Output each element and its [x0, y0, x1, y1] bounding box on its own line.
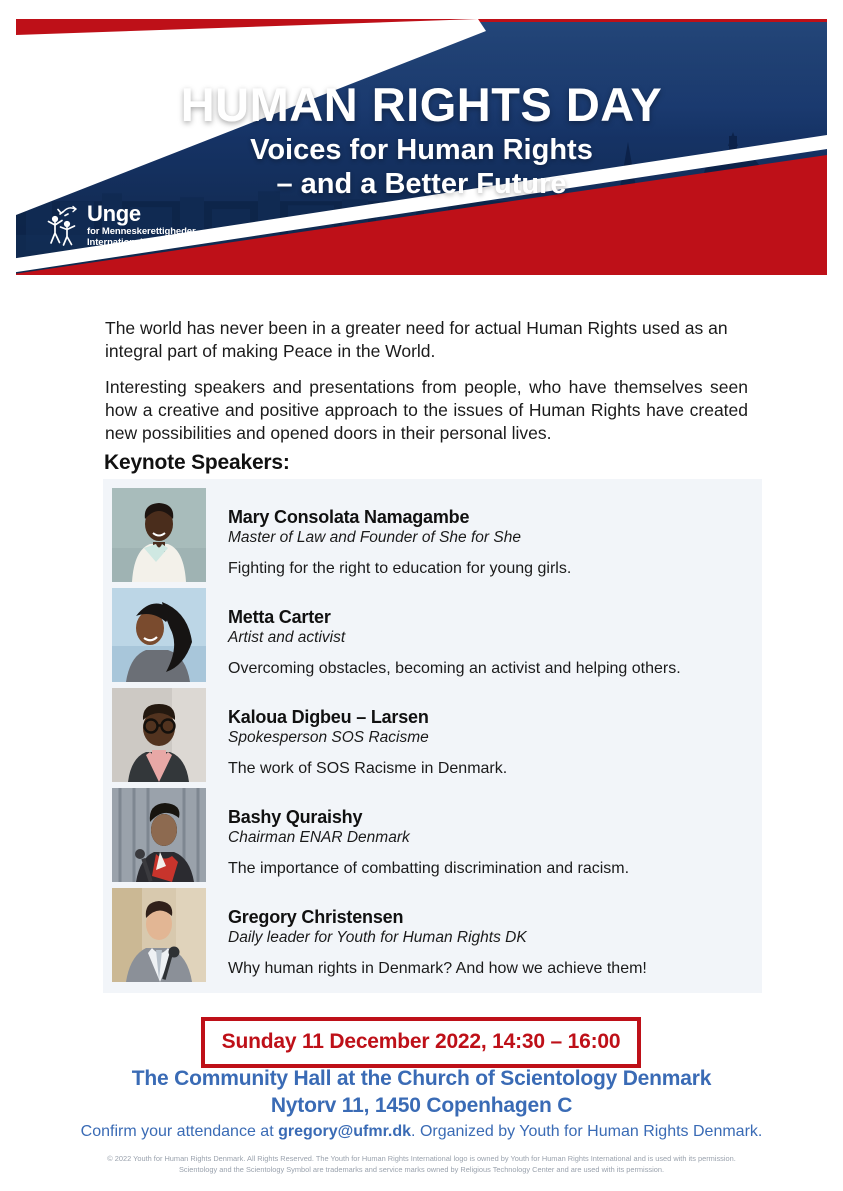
speaker-info: Mary Consolata Namagambe Master of Law a… [228, 488, 762, 578]
speaker-name: Gregory Christensen [228, 907, 762, 928]
banner-headline-group: HUMAN RIGHTS DAY Voices for Human Rights… [16, 81, 827, 201]
confirm-prefix: Confirm your attendance at [81, 1123, 278, 1140]
speaker-row: Kaloua Digbeu – Larsen Spokesperson SOS … [103, 685, 762, 785]
speaker-description: Overcoming obstacles, becoming an activi… [228, 659, 762, 678]
unge-logo-line2: for Menneskerettigheder [87, 227, 196, 237]
speaker-photo [112, 588, 206, 682]
keynote-speakers-panel: Mary Consolata Namagambe Master of Law a… [103, 479, 762, 993]
speaker-row: Gregory Christensen Daily leader for You… [103, 885, 762, 985]
speaker-info: Gregory Christensen Daily leader for You… [228, 888, 762, 978]
page-title: HUMAN RIGHTS DAY [16, 81, 827, 129]
banner-subtitle-line1: Voices for Human Rights [16, 133, 827, 167]
speaker-role: Spokesperson SOS Racisme [228, 729, 762, 748]
speaker-description: The importance of combatting discriminat… [228, 859, 762, 878]
speaker-name: Kaloua Digbeu – Larsen [228, 707, 762, 728]
speaker-role: Artist and activist [228, 629, 762, 648]
confirm-suffix: . Organized by Youth for Human Rights De… [411, 1123, 762, 1140]
speaker-role: Master of Law and Founder of She for She [228, 529, 762, 548]
speaker-info: Metta Carter Artist and activist Overcom… [228, 588, 762, 678]
speaker-role: Daily leader for Youth for Human Rights … [228, 929, 762, 948]
venue-line-2: Nytorv 11, 1450 Copenhagen C [0, 1093, 843, 1120]
unge-logo-wordmark: Unge for Menneskerettigheder Internation… [87, 203, 196, 247]
speaker-role: Chairman ENAR Denmark [228, 829, 762, 848]
speaker-info: Kaloua Digbeu – Larsen Spokesperson SOS … [228, 688, 762, 778]
speaker-description: Why human rights in Denmark? And how we … [228, 959, 762, 978]
youth-for-human-rights-figures-icon [44, 203, 80, 247]
speaker-row: Mary Consolata Namagambe Master of Law a… [103, 485, 762, 585]
speaker-photo [112, 488, 206, 582]
event-venue: The Community Hall at the Church of Scie… [0, 1066, 843, 1120]
banner-subtitle-line2: – and a Better Future [16, 167, 827, 201]
unge-logo: Unge for Menneskerettigheder Internation… [44, 203, 196, 247]
speaker-description: Fighting for the right to education for … [228, 559, 762, 578]
intro-paragraph-2: Interesting speakers and presentations f… [105, 376, 748, 446]
event-banner: HUMAN RIGHTS DAY Voices for Human Rights… [16, 19, 827, 275]
unge-logo-line3: Internationalt™ [87, 238, 196, 248]
legal-line-2: Scientology and the Scientology Symbol a… [70, 1165, 773, 1176]
unge-logo-name: Unge [87, 203, 196, 225]
speaker-row: Metta Carter Artist and activist Overcom… [103, 585, 762, 685]
speaker-photo [112, 688, 206, 782]
contact-email-link[interactable]: gregory@ufmr.dk [278, 1123, 411, 1140]
venue-line-1: The Community Hall at the Church of Scie… [0, 1066, 843, 1093]
speaker-row: Bashy Quraishy Chairman ENAR Denmark The… [103, 785, 762, 885]
event-datetime-box: Sunday 11 December 2022, 14:30 – 16:00 [201, 1017, 641, 1068]
intro-paragraph-1: The world has never been in a greater ne… [105, 317, 748, 364]
speaker-description: The work of SOS Racisme in Denmark. [228, 759, 762, 778]
legal-line-1: © 2022 Youth for Human Rights Denmark. A… [70, 1154, 773, 1165]
speaker-photo [112, 788, 206, 882]
confirm-attendance-line: Confirm your attendance at gregory@ufmr.… [0, 1122, 843, 1143]
speaker-photo [112, 888, 206, 982]
keynote-speakers-heading: Keynote Speakers: [104, 451, 290, 475]
speaker-name: Mary Consolata Namagambe [228, 507, 762, 528]
speaker-name: Metta Carter [228, 607, 762, 628]
legal-fineprint: © 2022 Youth for Human Rights Denmark. A… [70, 1154, 773, 1175]
speaker-name: Bashy Quraishy [228, 807, 762, 828]
speaker-info: Bashy Quraishy Chairman ENAR Denmark The… [228, 788, 762, 878]
